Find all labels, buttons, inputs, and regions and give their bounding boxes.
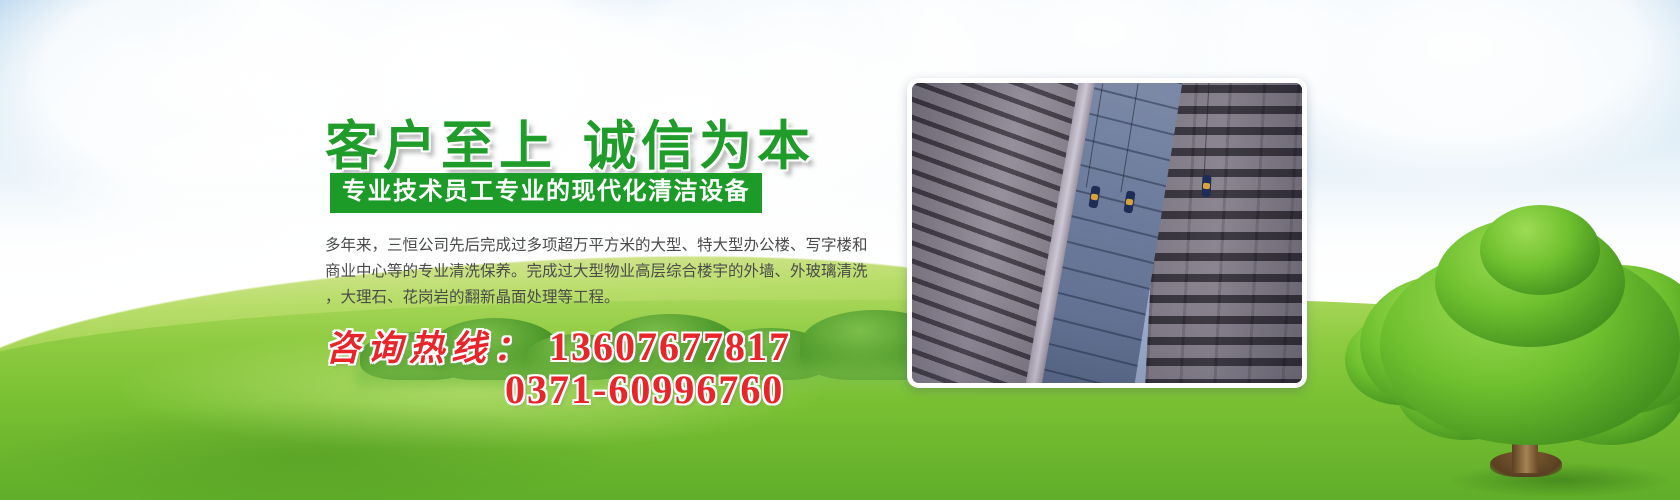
hotline-row: 咨询热线： 13607677817: [325, 320, 791, 371]
body-line-1: 多年来，三恒公司先后完成过多项超万平方米的大型、特大型办公楼、写字楼和: [325, 233, 905, 259]
headline-part-1: 客户至上: [325, 118, 557, 176]
headline-part-2: 诚信为本: [583, 118, 815, 176]
banner-content: 客户至上诚信为本 专业技术员工专业的现代化清洁设备 多年来，三恒公司先后完成过多…: [0, 0, 1680, 500]
headline: 客户至上诚信为本: [325, 104, 815, 180]
promo-banner: 客户至上诚信为本 专业技术员工专业的现代化清洁设备 多年来，三恒公司先后完成过多…: [0, 0, 1680, 500]
body-line-2: 商业中心等的专业清洗保养。完成过大型物业高层综合楼宇的外墙、外玻璃清洗: [325, 259, 905, 285]
body-copy: 多年来，三恒公司先后完成过多项超万平方米的大型、特大型办公楼、写字楼和 商业中心…: [325, 233, 905, 311]
body-line-3: ，大理石、花岗岩的翻新晶面处理等工程。: [325, 285, 905, 311]
subtitle-bar: 专业技术员工专业的现代化清洁设备: [330, 173, 762, 213]
hotline-primary-number[interactable]: 13607677817: [549, 323, 791, 370]
subtitle-bar-text: 专业技术员工专业的现代化清洁设备: [342, 178, 750, 206]
hotline-label: 咨询热线：: [325, 320, 535, 371]
hotline-secondary-number[interactable]: 0371-60996760: [505, 366, 784, 413]
